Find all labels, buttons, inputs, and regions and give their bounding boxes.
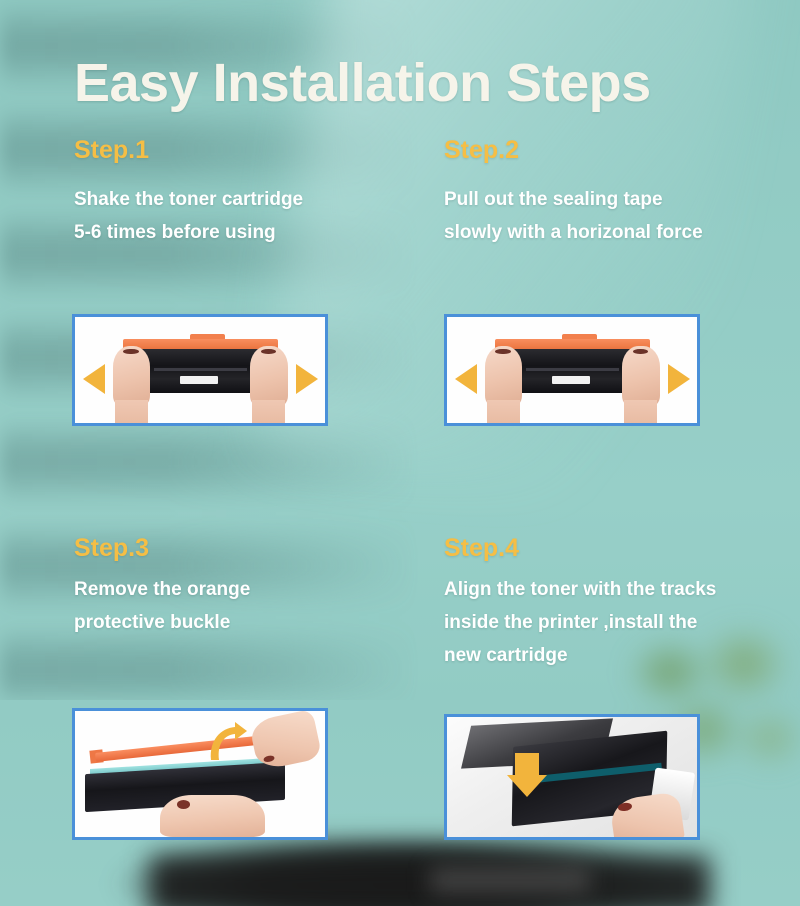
fingernail-icon	[618, 802, 633, 812]
wrist	[487, 400, 520, 426]
cartridge-label	[180, 376, 218, 383]
cartridge-roller	[526, 368, 619, 371]
left-hand	[485, 346, 523, 407]
step-1-label: Step.1	[74, 136, 303, 165]
step-4-photo	[444, 714, 700, 840]
step-3-description: Remove the orange protective buckle	[74, 573, 250, 639]
wrist	[624, 400, 657, 426]
step-1-line-1: Shake the toner cartridge	[74, 183, 303, 216]
printer-body	[447, 717, 697, 837]
right-hand	[250, 346, 288, 407]
step-3-label: Step.3	[74, 534, 250, 563]
step-4-text-block: Step.4 Align the toner with the tracks i…	[444, 534, 716, 672]
fingernail-icon	[495, 349, 511, 355]
fingernail-icon	[177, 800, 191, 809]
step-1-line-2: 5-6 times before using	[74, 216, 303, 249]
arrow-left-icon	[455, 364, 477, 394]
step-2-line-1: Pull out the sealing tape	[444, 183, 703, 216]
step-3-photo	[72, 708, 328, 840]
step-4-line-1: Align the toner with the tracks	[444, 573, 716, 606]
step-1-description: Shake the toner cartridge 5-6 times befo…	[74, 183, 303, 249]
fingernail-icon	[262, 755, 275, 763]
arrow-down-icon	[507, 753, 547, 797]
step-4-label: Step.4	[444, 534, 716, 563]
left-hand	[113, 346, 151, 407]
step-2-description: Pull out the sealing tape slowly with a …	[444, 183, 703, 249]
arrow-left-icon	[83, 364, 105, 394]
step-2-line-2: slowly with a horizonal force	[444, 216, 703, 249]
step-4-description: Align the toner with the tracks inside t…	[444, 573, 716, 672]
step-1-text-block: Step.1 Shake the toner cartridge 5-6 tim…	[74, 136, 303, 249]
wrist	[252, 400, 285, 426]
arrow-right-icon	[668, 364, 690, 394]
arrow-right-icon	[296, 364, 318, 394]
step-3-line-2: protective buckle	[74, 606, 250, 639]
arrow-up-curved-icon	[205, 722, 247, 762]
step-2-label: Step.2	[444, 136, 703, 165]
step-2-photo	[444, 314, 700, 426]
step-3-text-block: Step.3 Remove the orange protective buck…	[74, 534, 250, 639]
wrist	[115, 400, 148, 426]
step-4-line-3: new cartridge	[444, 639, 716, 672]
step-3-line-1: Remove the orange	[74, 573, 250, 606]
fingernail-icon	[123, 349, 139, 355]
step-4-line-2: inside the printer ,install the	[444, 606, 716, 639]
supporting-hand	[160, 795, 265, 837]
page-title: Easy Installation Steps	[74, 52, 651, 114]
right-hand	[622, 346, 660, 407]
step-2-text-block: Step.2 Pull out the sealing tape slowly …	[444, 136, 703, 249]
fingernail-icon	[261, 349, 277, 355]
cartridge-label	[552, 376, 590, 383]
fingernail-icon	[633, 349, 649, 355]
cartridge-roller	[154, 368, 247, 371]
installation-steps-poster: Easy Installation Steps Step.1 Shake the…	[0, 0, 800, 906]
step-1-photo	[72, 314, 328, 426]
